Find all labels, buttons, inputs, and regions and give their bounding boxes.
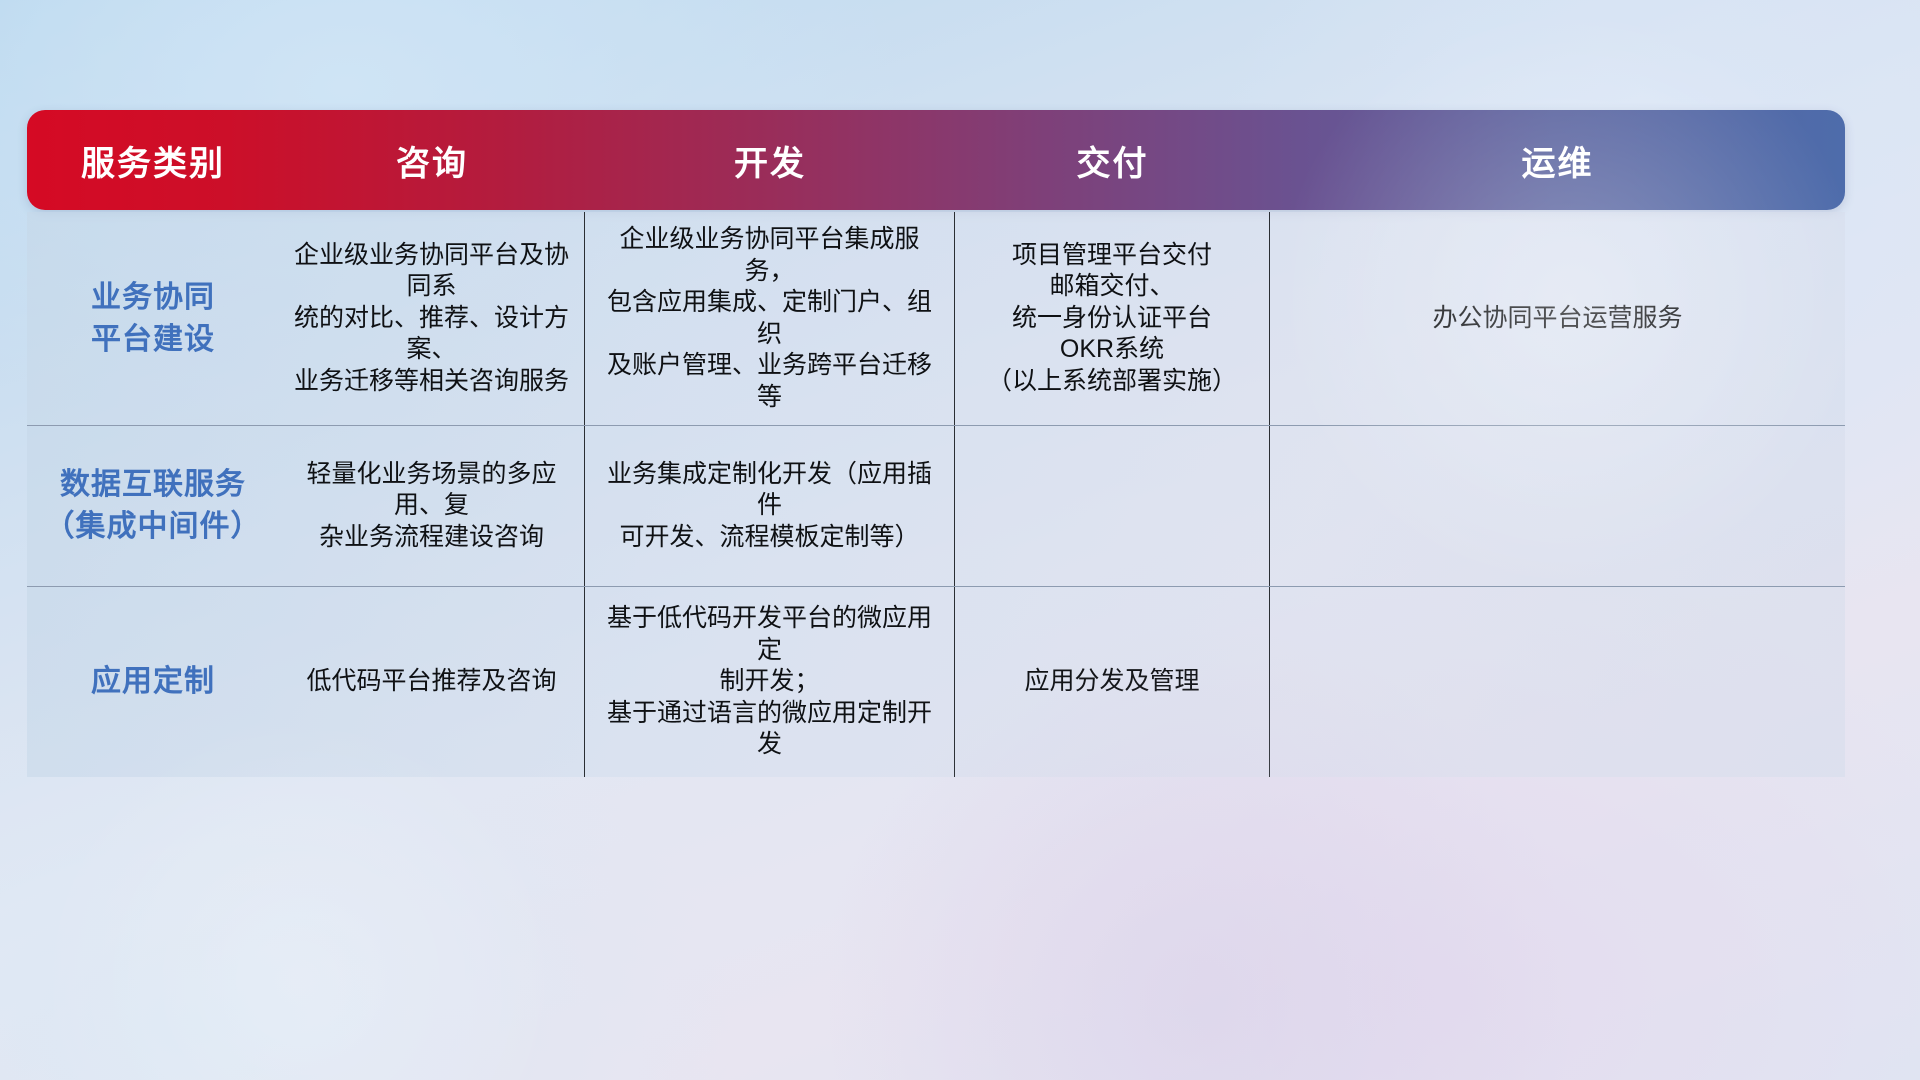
column-header-operations: 运维 (1270, 110, 1845, 210)
cell-operations: 办公协同平台运营服务 (1270, 212, 1845, 425)
cell-operations (1270, 426, 1845, 586)
cell-category: 数据互联服务 （集成中间件） (27, 426, 279, 586)
table-row: 应用定制 低代码平台推荐及咨询 基于低代码开发平台的微应用定 制开发； 基于通过… (27, 587, 1845, 777)
cell-delivery (955, 426, 1270, 586)
cell-development: 企业级业务协同平台集成服务， 包含应用集成、定制门户、组织 及账户管理、业务跨平… (585, 212, 955, 425)
cell-operations (1270, 587, 1845, 777)
table-body: 业务协同 平台建设 企业级业务协同平台及协同系 统的对比、推荐、设计方案、 业务… (27, 212, 1845, 777)
column-header-category: 服务类别 (27, 110, 279, 210)
cell-delivery: 项目管理平台交付 邮箱交付、 统一身份认证平台 OKR系统 （以上系统部署实施） (955, 212, 1270, 425)
cell-category: 业务协同 平台建设 (27, 212, 279, 425)
column-header-consulting: 咨询 (279, 110, 585, 210)
cell-consulting: 企业级业务协同平台及协同系 统的对比、推荐、设计方案、 业务迁移等相关咨询服务 (279, 212, 585, 425)
cell-development: 基于低代码开发平台的微应用定 制开发； 基于通过语言的微应用定制开发 (585, 587, 955, 777)
column-header-delivery: 交付 (955, 110, 1270, 210)
service-matrix-table: 服务类别 咨询 开发 交付 运维 业务协同 平台建设 企业级业务协同平台及协同系… (27, 110, 1845, 777)
table-row: 业务协同 平台建设 企业级业务协同平台及协同系 统的对比、推荐、设计方案、 业务… (27, 212, 1845, 426)
cell-delivery: 应用分发及管理 (955, 587, 1270, 777)
cell-development: 业务集成定制化开发（应用插件 可开发、流程模板定制等） (585, 426, 955, 586)
table-row: 数据互联服务 （集成中间件） 轻量化业务场景的多应用、复 杂业务流程建设咨询 业… (27, 426, 1845, 587)
column-header-development: 开发 (585, 110, 955, 210)
slide-canvas: 服务类别 咨询 开发 交付 运维 业务协同 平台建设 企业级业务协同平台及协同系… (0, 0, 1920, 1080)
cell-category: 应用定制 (27, 587, 279, 777)
table-header-row: 服务类别 咨询 开发 交付 运维 (27, 110, 1845, 210)
cell-consulting: 轻量化业务场景的多应用、复 杂业务流程建设咨询 (279, 426, 585, 586)
cell-consulting: 低代码平台推荐及咨询 (279, 587, 585, 777)
